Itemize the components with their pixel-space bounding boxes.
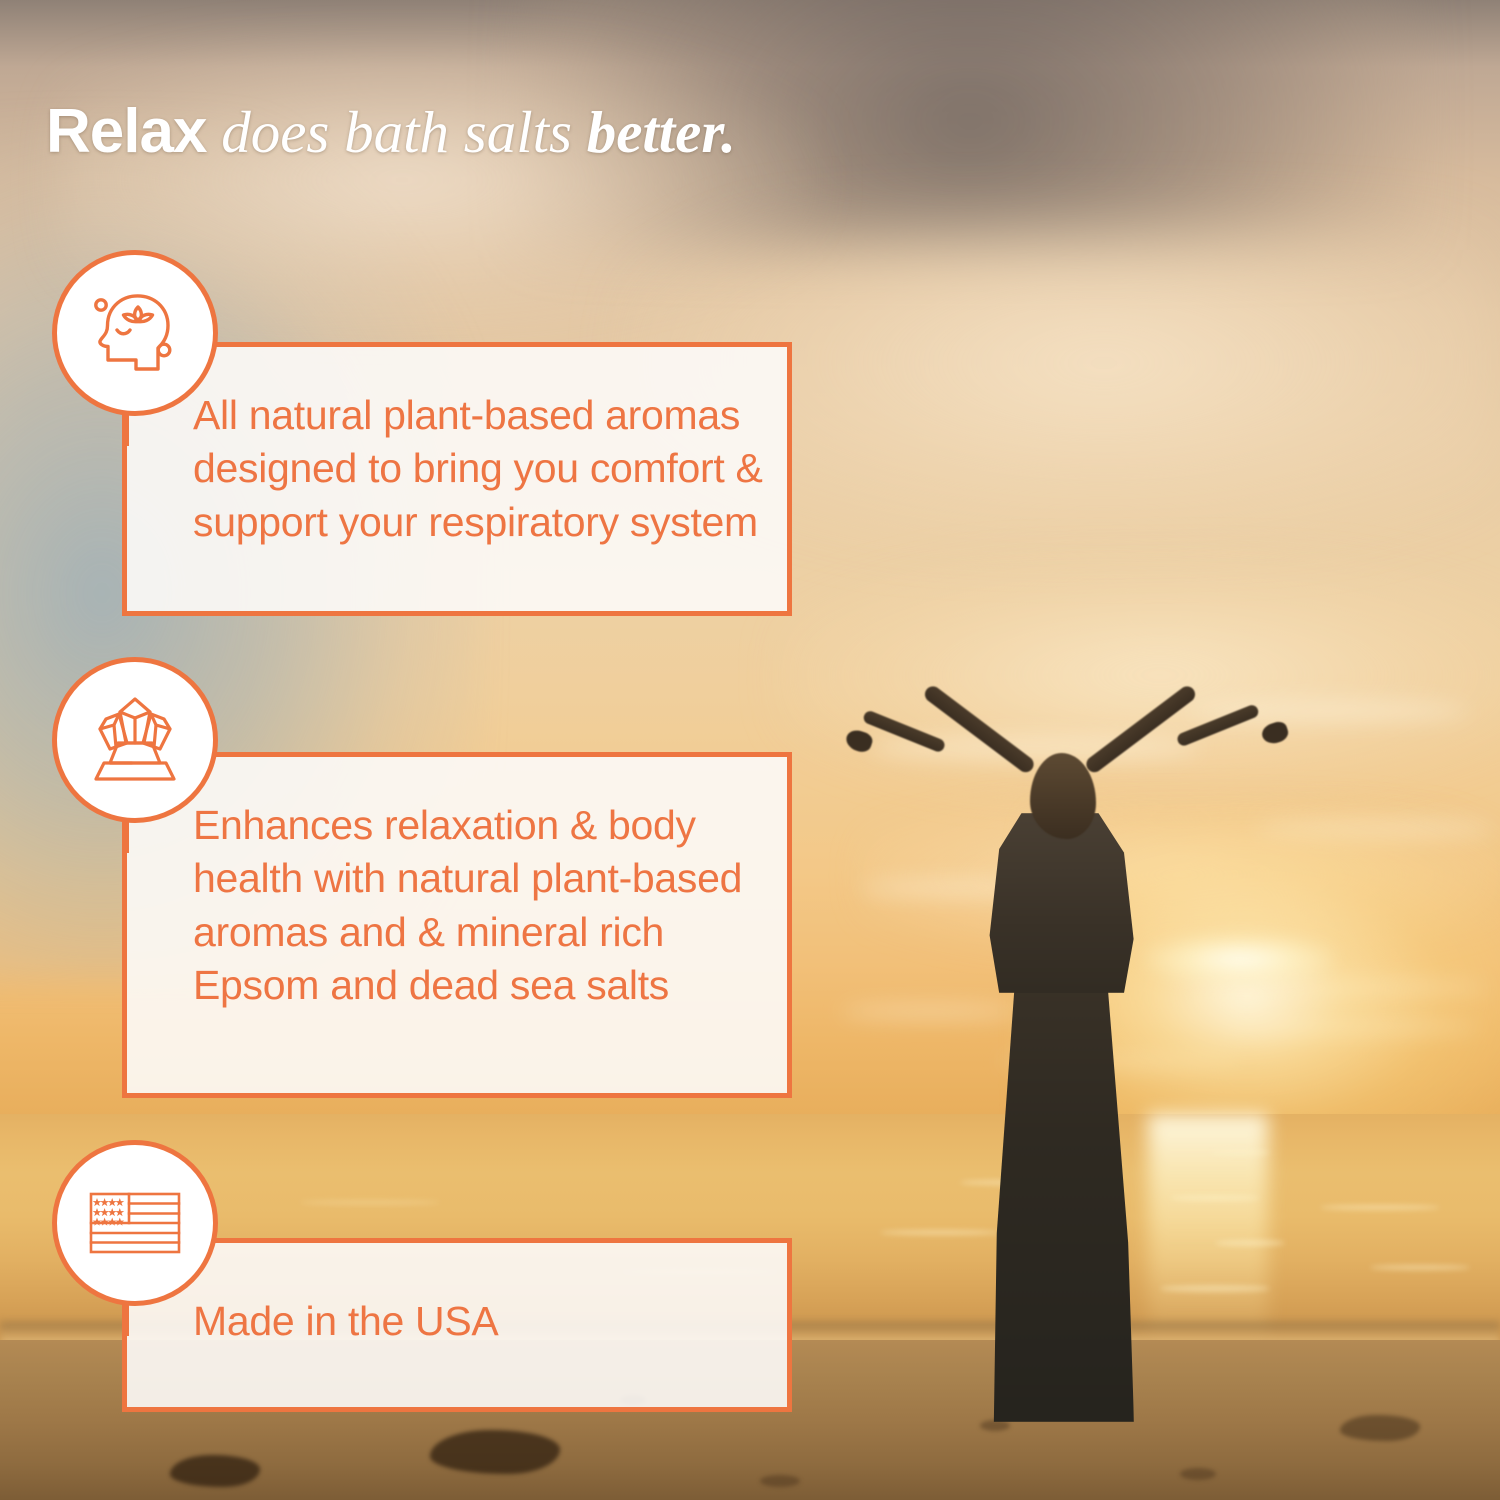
- marketing-infographic: Relax does bath salts better. All natura…: [0, 0, 1500, 1500]
- feature-text-3: Made in the USA: [193, 1295, 765, 1348]
- mineral-salt-crystals-icon: [52, 657, 218, 823]
- headline: Relax does bath salts better.: [46, 96, 736, 167]
- beach-debris: [430, 1430, 560, 1474]
- beach-debris: [1340, 1415, 1420, 1441]
- feature-text-2: Enhances relaxation & body health with n…: [193, 799, 765, 1012]
- water-shimmer: [1370, 1265, 1470, 1270]
- feature-card-1: All natural plant-based aromas designed …: [122, 342, 792, 616]
- headline-emphasis: better.: [587, 99, 736, 165]
- headline-middle: does bath salts: [206, 99, 586, 165]
- head-lotus-icon-glyph: [76, 274, 194, 392]
- woman-silhouette: [880, 735, 1340, 1435]
- usa-flag-icon-glyph: [76, 1164, 194, 1282]
- feature-card-2: Enhances relaxation & body health with n…: [122, 752, 792, 1098]
- usa-flag-icon: [52, 1140, 218, 1306]
- sand-speck: [1180, 1468, 1216, 1480]
- flag-stars: [93, 1198, 125, 1226]
- crystal-cluster-icon-glyph: [76, 681, 194, 799]
- water-shimmer: [300, 1200, 440, 1205]
- beach-debris: [170, 1455, 260, 1487]
- sand-speck: [760, 1475, 800, 1487]
- skirt: [988, 950, 1134, 1422]
- top-garment: [980, 813, 1140, 993]
- headline-brand: Relax: [46, 97, 206, 166]
- feature-card-3: Made in the USA: [122, 1238, 792, 1412]
- feature-text-1: All natural plant-based aromas designed …: [193, 389, 765, 549]
- head-lotus-mindfulness-icon: [52, 250, 218, 416]
